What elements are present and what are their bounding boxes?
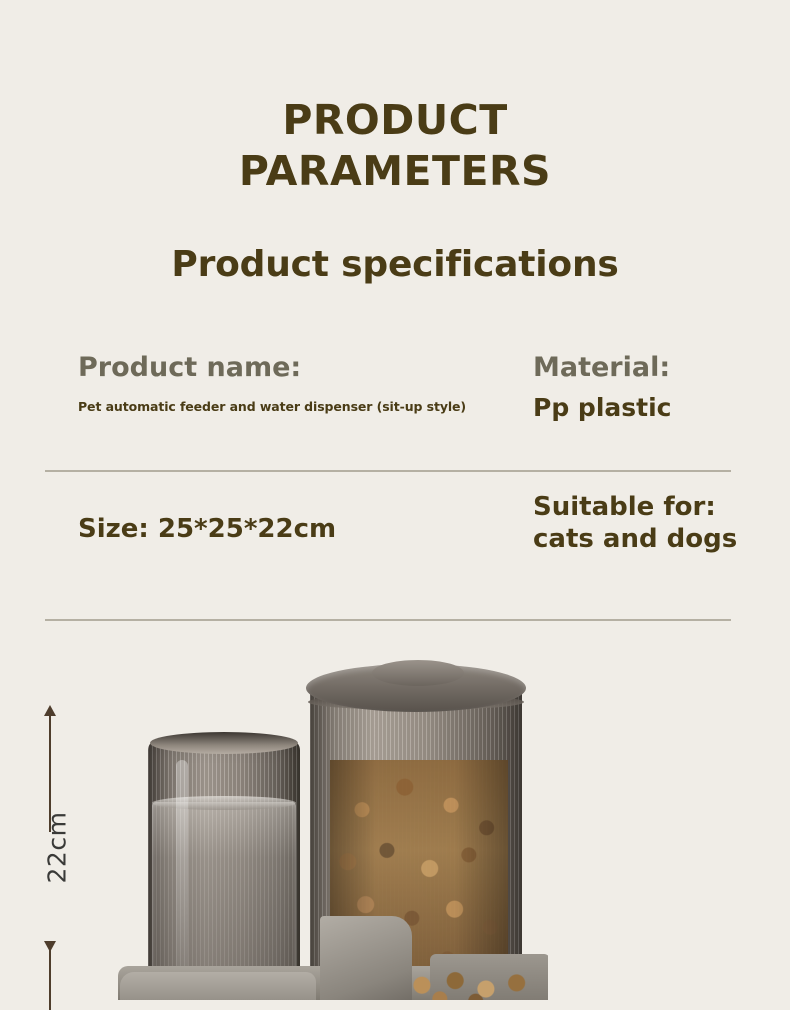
- spec-value-size: Size: 25*25*22cm: [78, 514, 533, 546]
- photo-background-mask: [548, 648, 790, 1000]
- spec-divider-1: [45, 470, 731, 472]
- spec-label-suitable-for: Suitable for:: [533, 492, 748, 524]
- water-cylinder-highlight: [176, 760, 188, 975]
- spec-value-material: Pp plastic: [533, 393, 748, 423]
- water-surface: [152, 796, 296, 810]
- water-cylinder-rim: [150, 732, 298, 754]
- page-title-line-2: PARAMETERS: [0, 146, 790, 197]
- page-title: PRODUCT PARAMETERS: [0, 95, 790, 197]
- lid-handle: [372, 660, 464, 686]
- page-title-line-1: PRODUCT: [0, 95, 790, 146]
- spec-label-material: Material:: [533, 352, 748, 383]
- spec-row-2: Size: 25*25*22cm Suitable for: cats and …: [0, 470, 790, 610]
- spec-value-product-name: Pet automatic feeder and water dispenser…: [78, 399, 533, 414]
- water-bowl-tray: [120, 972, 316, 1000]
- page-subtitle: Product specifications: [0, 244, 790, 285]
- spec-divider-2: [45, 619, 731, 621]
- spec-cell-suitable-for: Suitable for: cats and dogs: [533, 470, 748, 555]
- product-image: [0, 648, 790, 1000]
- spec-value-suitable-for: cats and dogs: [533, 524, 748, 556]
- spec-row-1: Product name: Pet automatic feeder and w…: [0, 352, 790, 470]
- spec-cell-size: Size: 25*25*22cm: [78, 470, 533, 546]
- water-level: [152, 802, 296, 988]
- spec-cell-material: Material: Pp plastic: [533, 352, 748, 423]
- product-parameters-page: PRODUCT PARAMETERS Product specification…: [0, 0, 790, 1000]
- spec-cell-product-name: Product name: Pet automatic feeder and w…: [78, 352, 533, 414]
- specification-table: Product name: Pet automatic feeder and w…: [0, 352, 790, 610]
- feeder-chute: [320, 916, 412, 1000]
- dispensed-kibble: [404, 970, 532, 1000]
- spec-label-product-name: Product name:: [78, 352, 533, 383]
